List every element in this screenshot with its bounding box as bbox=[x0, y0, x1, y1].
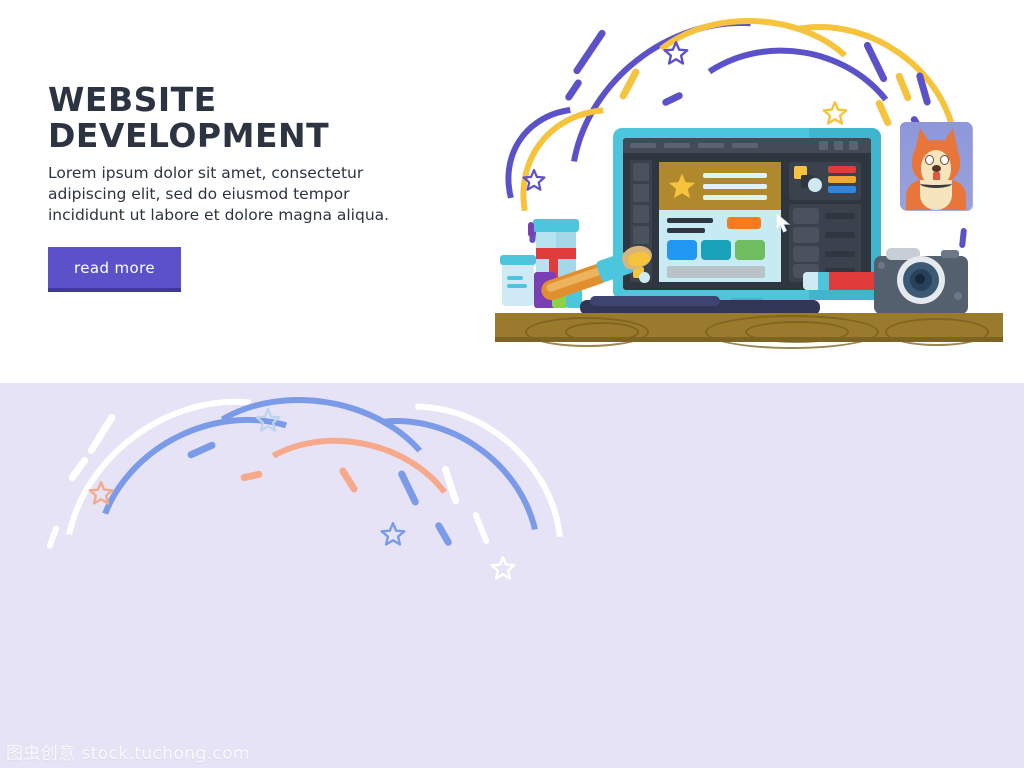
app-window-control[interactable] bbox=[849, 141, 858, 150]
star-outline-yellow-1 bbox=[822, 100, 848, 126]
jar-small-line bbox=[507, 276, 523, 280]
canvas-hero bbox=[659, 162, 781, 210]
swatch-red[interactable] bbox=[828, 166, 856, 173]
star-outline-purple-2 bbox=[522, 168, 546, 192]
color-swatch-background[interactable] bbox=[639, 272, 650, 283]
app-canvas[interactable] bbox=[659, 162, 781, 282]
layer-label bbox=[825, 213, 855, 219]
tool-button[interactable] bbox=[633, 226, 649, 244]
banner-website-development-bottom: 12 3 6 9 bbox=[0, 383, 1024, 768]
dash-purple-8 bbox=[959, 228, 967, 249]
page-title-top: WEBSITEDEVELOPMENT bbox=[48, 82, 468, 153]
dog-collar bbox=[920, 179, 952, 188]
jar-large-cap bbox=[533, 219, 579, 232]
dash-purple-small bbox=[528, 222, 534, 237]
dog-eye-right bbox=[940, 155, 949, 165]
layer-thumb[interactable] bbox=[793, 246, 819, 262]
canvas-card-blue[interactable] bbox=[667, 240, 697, 260]
canvas-card-teal[interactable] bbox=[701, 240, 731, 260]
app-menu-item[interactable] bbox=[698, 143, 724, 148]
tool-button[interactable] bbox=[633, 163, 649, 181]
canvas-body bbox=[659, 210, 781, 282]
star-outline-lightblue-1 bbox=[255, 407, 281, 433]
app-menu-item[interactable] bbox=[664, 143, 690, 148]
camera-button[interactable] bbox=[878, 262, 885, 269]
swatch-light[interactable] bbox=[808, 178, 822, 192]
canvas-text-line bbox=[703, 195, 767, 200]
canvas-card-green[interactable] bbox=[735, 240, 765, 260]
canvas-text-line bbox=[703, 184, 767, 189]
banner-website-development-top: WEBSITEDEVELOPMENT Lorem ipsum dolor sit… bbox=[0, 0, 1024, 383]
jar-small-line bbox=[507, 284, 527, 288]
star-outline-purple-1 bbox=[663, 40, 689, 66]
layer-label bbox=[825, 251, 855, 257]
swatch-blue[interactable] bbox=[828, 186, 856, 193]
layer-label bbox=[825, 232, 855, 238]
app-window-control[interactable] bbox=[819, 141, 828, 150]
canvas-heading-line bbox=[667, 218, 713, 223]
wooden-desk-top bbox=[495, 313, 1003, 342]
monitor-screen bbox=[623, 138, 871, 290]
layer-thumb[interactable] bbox=[793, 208, 819, 224]
dash-purple-2 bbox=[564, 78, 583, 102]
read-more-button-top[interactable]: read more bbox=[48, 247, 181, 292]
dash-white-2 bbox=[67, 456, 89, 483]
app-window-control[interactable] bbox=[834, 141, 843, 150]
star-outline-blue-1 bbox=[380, 521, 406, 547]
canvas-cta-button[interactable] bbox=[727, 217, 761, 229]
dash-purple-1 bbox=[572, 28, 607, 75]
description-top: Lorem ipsum dolor sit amet, consectetur … bbox=[48, 163, 468, 226]
canvas-heading-line bbox=[667, 228, 705, 233]
jar-small-cap bbox=[500, 255, 536, 265]
cursor-arrow-icon bbox=[775, 212, 791, 232]
app-menu-item[interactable] bbox=[732, 143, 758, 148]
dog-eye-left bbox=[925, 155, 934, 165]
tool-button[interactable] bbox=[633, 184, 649, 202]
dog-nose bbox=[932, 165, 941, 172]
canvas-footer bbox=[667, 266, 765, 278]
dash-white-1 bbox=[86, 413, 116, 456]
pencil-body bbox=[829, 272, 877, 290]
title-line-1: WEBSITE bbox=[48, 80, 217, 119]
app-menu-item[interactable] bbox=[630, 143, 656, 148]
star-outline-white-1 bbox=[490, 555, 516, 581]
dog-photo-frame bbox=[900, 122, 972, 210]
text-block-top: WEBSITEDEVELOPMENT Lorem ipsum dolor sit… bbox=[48, 82, 468, 292]
watermark: 图虫创意 stock.tuchong.com bbox=[6, 739, 250, 764]
star-outline-salmon-1 bbox=[88, 480, 114, 506]
layer-thumb[interactable] bbox=[793, 227, 819, 243]
title-line-2: DEVELOPMENT bbox=[48, 116, 329, 155]
camera-sensor bbox=[954, 292, 962, 300]
star-icon bbox=[667, 171, 697, 201]
swatch-orange[interactable] bbox=[828, 176, 856, 183]
canvas-text-line bbox=[703, 173, 767, 178]
camera-dial bbox=[941, 250, 959, 258]
camera-aperture bbox=[915, 274, 925, 284]
keyboard-top bbox=[590, 296, 720, 306]
tool-button[interactable] bbox=[633, 205, 649, 223]
dash-white-3 bbox=[46, 525, 60, 550]
